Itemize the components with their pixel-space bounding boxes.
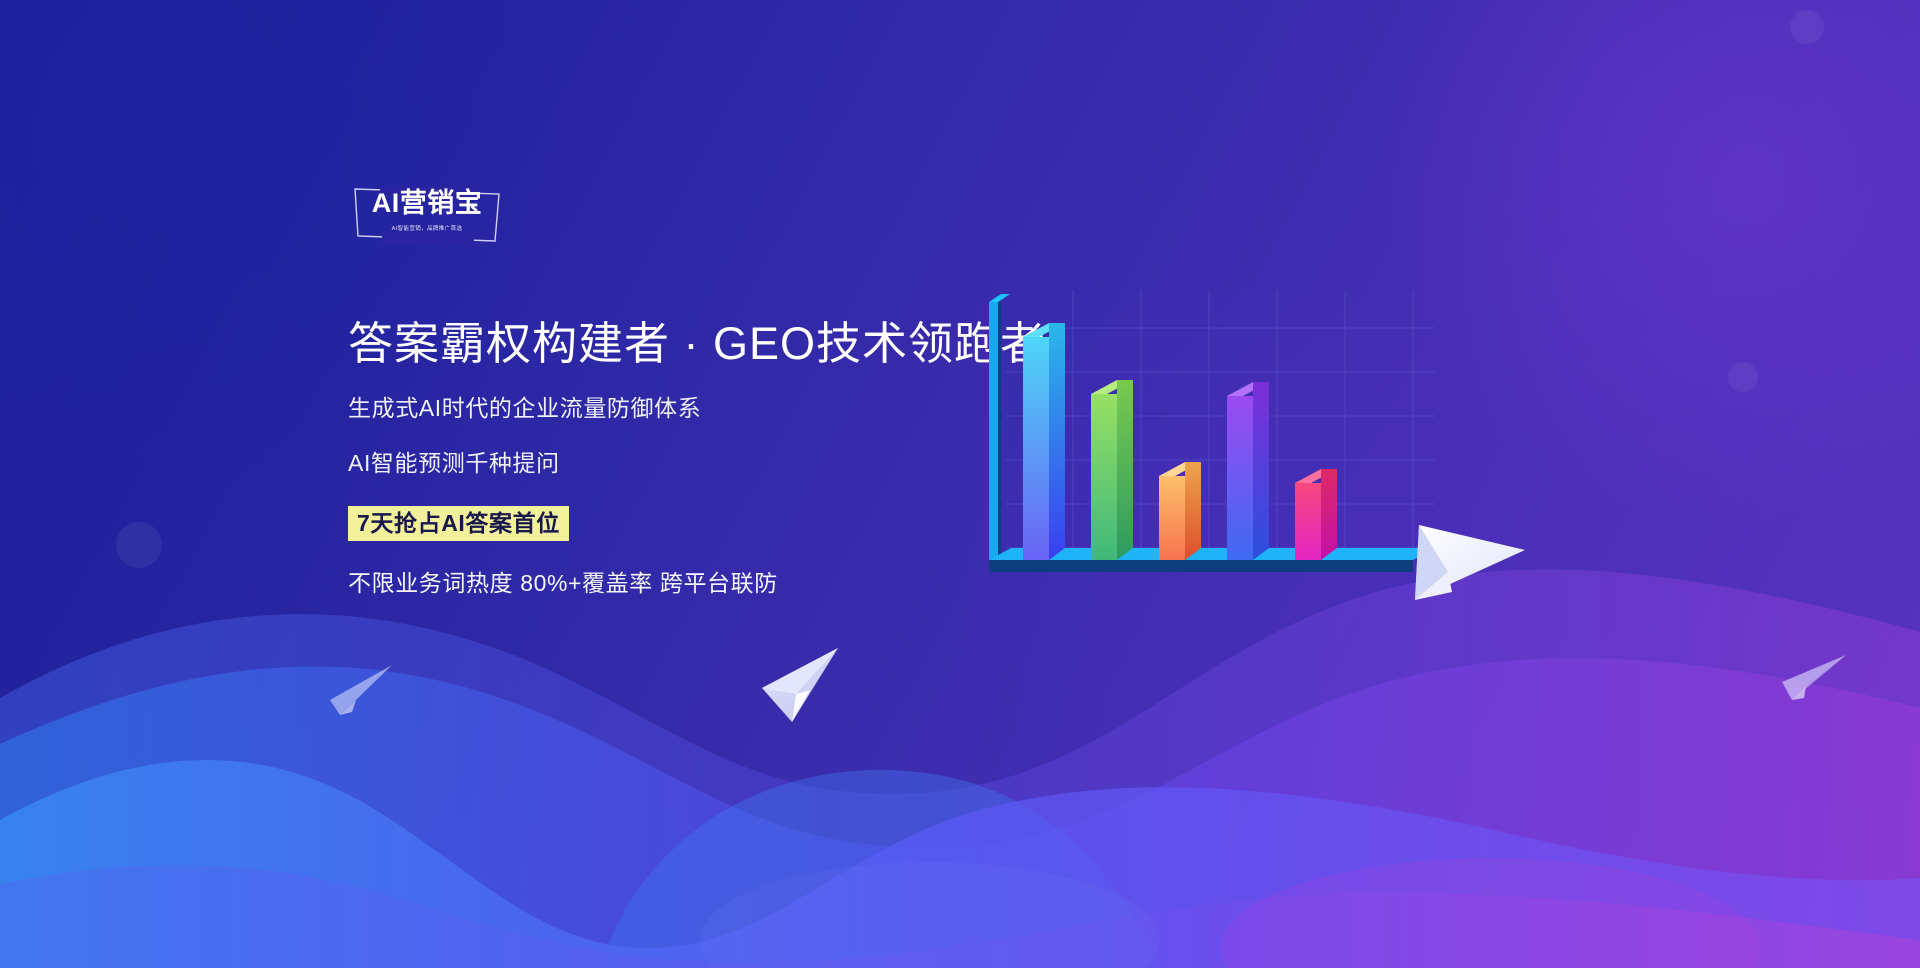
chart-bar	[1295, 469, 1337, 560]
chart-gridlines	[1005, 290, 1435, 548]
hero-subtitle: 生成式AI时代的企业流量防御体系	[348, 396, 1046, 421]
chart-bar	[1159, 462, 1201, 560]
hero-benefits: 不限业务词热度 80%+覆盖率 跨平台联防	[348, 571, 1046, 596]
chart-bar	[1227, 382, 1269, 560]
chart-bar	[1091, 380, 1133, 560]
hero-highlight-badge: 7天抢占AI答案首位	[348, 506, 569, 541]
chart-y-axis	[989, 294, 1010, 572]
hero-banner: AI营销宝 AI智能营销，品牌推广首选 答案霸权构建者 · GEO技术领跑者 生…	[0, 0, 1920, 968]
decor-bubble	[1728, 362, 1758, 392]
logo-wordmark: AI营销宝	[352, 190, 502, 217]
ambient-glow-right	[1360, 0, 1920, 520]
chart-bar	[1023, 323, 1065, 560]
hero-feature-line: AI智能预测千种提问	[348, 451, 1046, 476]
hero-highlight-row: 7天抢占AI答案首位	[348, 506, 1046, 541]
hero-copy: 答案霸权构建者 · GEO技术领跑者 生成式AI时代的企业流量防御体系 AI智能…	[348, 318, 1046, 597]
chart-bars	[1023, 323, 1337, 560]
page-title: 答案霸权构建者 · GEO技术领跑者	[348, 318, 1046, 370]
logo-tagline: AI智能营销，品牌推广首选	[358, 223, 496, 231]
bar-chart-illustration	[975, 290, 1435, 665]
background-waves	[0, 548, 1920, 968]
decor-bubble	[1790, 10, 1824, 44]
brand-logo[interactable]: AI营销宝 AI智能营销，品牌推广首选	[352, 186, 502, 244]
